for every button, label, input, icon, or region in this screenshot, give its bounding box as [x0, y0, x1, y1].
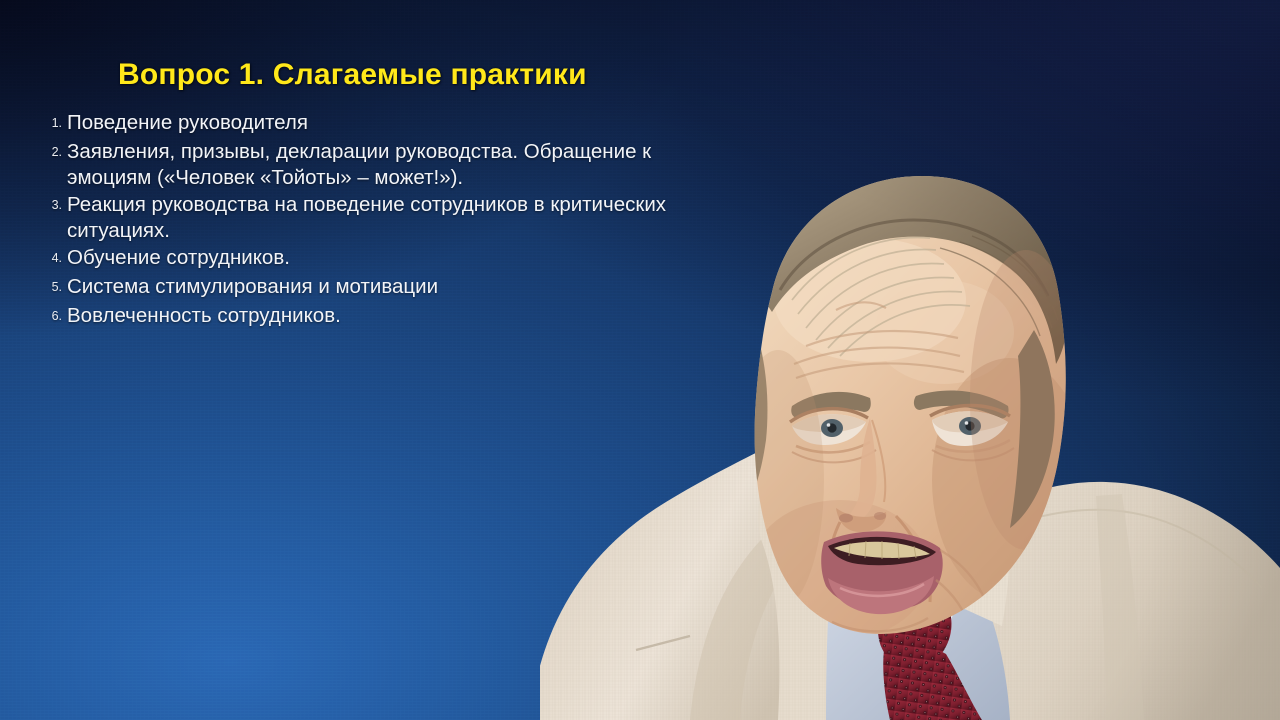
list-item-text: Реакция руководства на поведение сотрудн…	[67, 192, 716, 243]
page-title: Вопрос 1. Слагаемые практики	[118, 58, 587, 92]
list-item-number: 1.	[16, 110, 67, 137]
list-item-number: 6.	[16, 303, 67, 330]
bullet-list: 1. Поведение руководителя 2. Заявления, …	[16, 110, 716, 332]
list-item-number: 3.	[16, 192, 67, 219]
list-item: 1. Поведение руководителя	[16, 110, 716, 137]
list-item-number: 5.	[16, 274, 67, 301]
list-item-text: Обучение сотрудников.	[67, 245, 716, 271]
list-item: 5. Система стимулирования и мотивации	[16, 274, 716, 301]
list-item-text: Вовлеченность сотрудников.	[67, 303, 716, 329]
list-item-text: Система стимулирования и мотивации	[67, 274, 716, 300]
list-item: 6. Вовлеченность сотрудников.	[16, 303, 716, 330]
list-item: 2. Заявления, призывы, декларации руково…	[16, 139, 716, 190]
list-item: 4. Обучение сотрудников.	[16, 245, 716, 272]
slide-vignette	[0, 0, 1280, 720]
list-item-number: 2.	[16, 139, 67, 166]
list-item-number: 4.	[16, 245, 67, 272]
list-item-text: Заявления, призывы, декларации руководст…	[67, 139, 716, 190]
list-item-text: Поведение руководителя	[67, 110, 716, 136]
video-slide-frame: Вопрос 1. Слагаемые практики 1. Поведени…	[0, 0, 1280, 720]
list-item: 3. Реакция руководства на поведение сотр…	[16, 192, 716, 243]
